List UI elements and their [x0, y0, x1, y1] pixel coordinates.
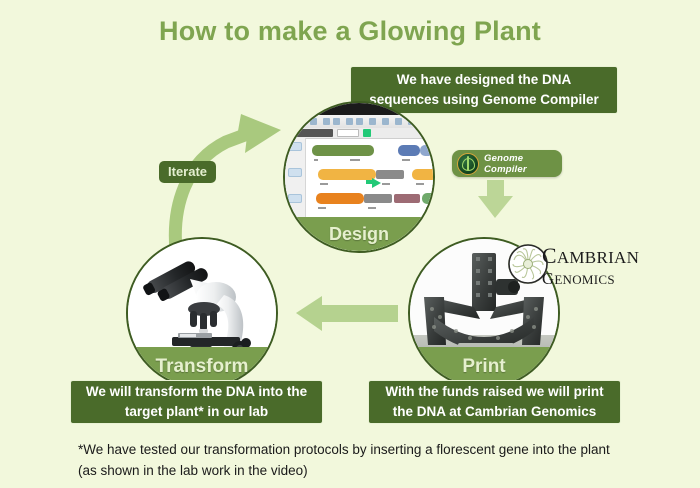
- iterate-arrow-head-icon: [238, 114, 281, 153]
- iterate-arrow-icon: [175, 133, 250, 250]
- footnote: *We have tested our transformation proto…: [78, 440, 618, 482]
- cambrian-wordmark: CAMBRIAN GENOMICS: [542, 246, 639, 287]
- step-label-transform: Transform: [156, 356, 249, 378]
- toolbar-icon-9: [382, 118, 389, 125]
- seq-tick-2: [350, 159, 360, 161]
- seq-tick-6: [382, 183, 390, 185]
- toolbar-icon-5: [333, 118, 340, 125]
- toolbar-icon-12: [421, 118, 428, 125]
- seq-block-spacer-2[interactable]: [364, 194, 392, 203]
- cambrian-line-1: CAMBRIAN: [542, 246, 639, 268]
- genome-compiler-badge[interactable]: Genome Compiler: [452, 150, 562, 177]
- slide-canvas: How to make a Glowing Plant We have desi…: [0, 0, 700, 488]
- seq-block-region-a[interactable]: [398, 145, 420, 156]
- page-title: How to make a Glowing Plant: [0, 16, 700, 47]
- software-titlebar: [285, 103, 433, 115]
- sidebar-item-1[interactable]: [288, 142, 302, 151]
- seq-tick-8: [318, 207, 326, 209]
- seq-tick-1: [314, 159, 318, 161]
- callout-transform: We will transform the DNA into the targe…: [70, 380, 323, 424]
- cambrian-line1-rest: AMBRIAN: [557, 248, 639, 267]
- seq-tick-9: [368, 207, 376, 209]
- software-tab-active[interactable]: [291, 129, 333, 137]
- seq-block-luxa[interactable]: [316, 193, 364, 204]
- seq-block-promoter[interactable]: [312, 145, 374, 156]
- toolbar-icon-1: [290, 118, 297, 125]
- software-run-icon[interactable]: [363, 129, 371, 137]
- seq-block-region-c[interactable]: [434, 145, 435, 156]
- seq-block-gene[interactable]: [422, 193, 435, 204]
- cambrian-genomics-logo: CAMBRIAN GENOMICS: [508, 238, 633, 290]
- software-tabbar: [285, 128, 433, 139]
- sidebar-item-3[interactable]: [288, 194, 302, 203]
- toolbar-icon-11: [408, 118, 415, 125]
- seq-block-term[interactable]: [394, 194, 420, 203]
- cambrian-line2-rest: ENOMICS: [554, 272, 615, 287]
- sidebar-item-2[interactable]: [288, 168, 302, 177]
- genome-compiler-logo-icon: [457, 153, 479, 175]
- genome-compiler-label: Genome Compiler: [484, 153, 562, 175]
- seq-tick-5: [320, 183, 328, 185]
- toolbar-icon-6: [346, 118, 353, 125]
- callout-print: With the funds raised we will print the …: [368, 380, 621, 424]
- seq-block-cds-2[interactable]: [412, 169, 435, 180]
- cambrian-line1-initial: C: [542, 244, 557, 268]
- toolbar-icon-4: [323, 118, 330, 125]
- step-circle-design[interactable]: Design: [283, 101, 435, 253]
- software-tab-new[interactable]: [337, 129, 359, 137]
- cambrian-line-2: GENOMICS: [542, 271, 639, 288]
- print-to-transform-arrow-icon: [296, 296, 398, 331]
- toolbar-icon-3: [310, 118, 317, 125]
- toolbar-icon-8: [369, 118, 376, 125]
- design-to-print-arrow-icon: [478, 180, 513, 218]
- seq-block-cds-1[interactable]: [318, 169, 376, 180]
- step-label-print: Print: [462, 356, 505, 378]
- step-label-design: Design: [329, 224, 389, 245]
- iterate-label: Iterate: [159, 161, 216, 183]
- toolbar-icon-7: [356, 118, 363, 125]
- software-toolbar: [285, 115, 433, 129]
- seq-tick-3: [402, 159, 410, 161]
- seq-tick-10: [426, 207, 434, 209]
- seq-tick-7: [416, 183, 424, 185]
- step-circle-transform[interactable]: Transform: [126, 237, 278, 389]
- toolbar-icon-2: [300, 118, 307, 125]
- seq-block-region-b[interactable]: [420, 145, 434, 156]
- cambrian-line2-initial: G: [542, 269, 554, 288]
- canvas-cursor-arrow-icon: [372, 178, 381, 188]
- toolbar-icon-10: [395, 118, 402, 125]
